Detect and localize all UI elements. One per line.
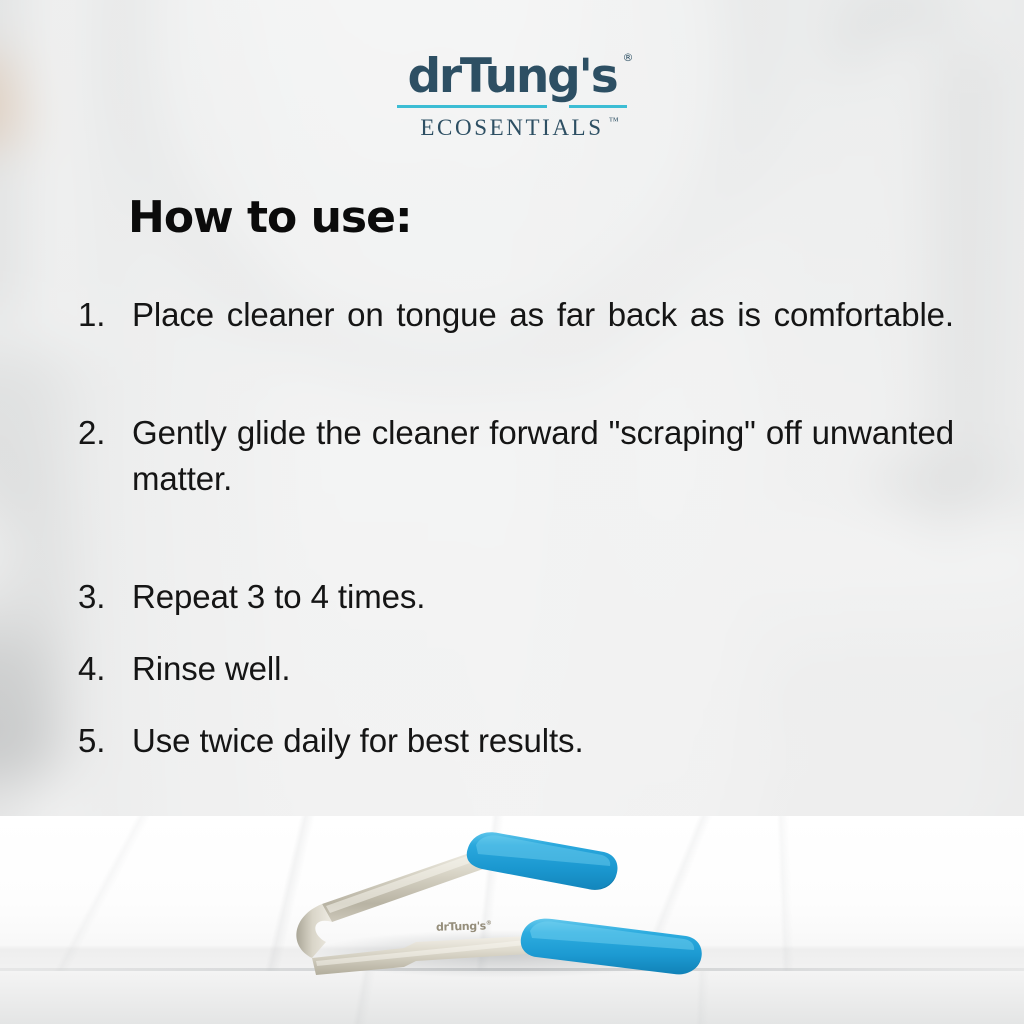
brand-underline-left	[397, 105, 547, 108]
product-instruction-graphic: drTung's ® ECOSENTIALS ™ How to use: 1. …	[0, 0, 1024, 1024]
brand-tagline: ECOSENTIALS	[420, 115, 603, 140]
registered-mark-icon: ®	[623, 51, 634, 64]
list-item-text: Rinse well.	[132, 646, 954, 692]
list-item-text: Use twice daily for best results.	[132, 718, 954, 764]
instruction-list: 1. Place cleaner on tongue as far back a…	[78, 292, 954, 790]
list-item-number: 2.	[78, 410, 122, 456]
brand-wordmark-wrap: drTung's ®	[407, 52, 616, 102]
list-item-number: 4.	[78, 646, 122, 692]
brand-wordmark: drTung's	[407, 52, 616, 102]
list-item-number: 5.	[78, 718, 122, 764]
brand-underline	[397, 105, 627, 109]
product-photo-tongue-cleaner: drTung's®	[286, 812, 738, 992]
list-item: 1. Place cleaner on tongue as far back a…	[78, 292, 954, 384]
list-item-text: Gently glide the cleaner forward "scrapi…	[132, 410, 954, 548]
list-item: 2. Gently glide the cleaner forward "scr…	[78, 410, 954, 548]
list-item: 5. Use twice daily for best results.	[78, 718, 954, 764]
tongue-cleaner-illustration	[286, 812, 738, 992]
list-item-number: 3.	[78, 574, 122, 620]
list-item-number: 1.	[78, 292, 122, 338]
handle-upper	[467, 832, 618, 890]
brand-tagline-wrap: ECOSENTIALS ™	[420, 115, 603, 141]
brand-logo: drTung's ® ECOSENTIALS ™	[0, 52, 1024, 141]
list-item-text: Place cleaner on tongue as far back as i…	[132, 292, 954, 384]
list-item-text: Repeat 3 to 4 times.	[132, 574, 954, 620]
trademark-mark-icon: ™	[609, 116, 619, 127]
brand-underline-right	[569, 105, 627, 108]
list-item: 3. Repeat 3 to 4 times.	[78, 574, 954, 620]
product-engraving: drTung's®	[436, 919, 492, 933]
list-item: 4. Rinse well.	[78, 646, 954, 692]
page-title: How to use:	[128, 192, 412, 244]
